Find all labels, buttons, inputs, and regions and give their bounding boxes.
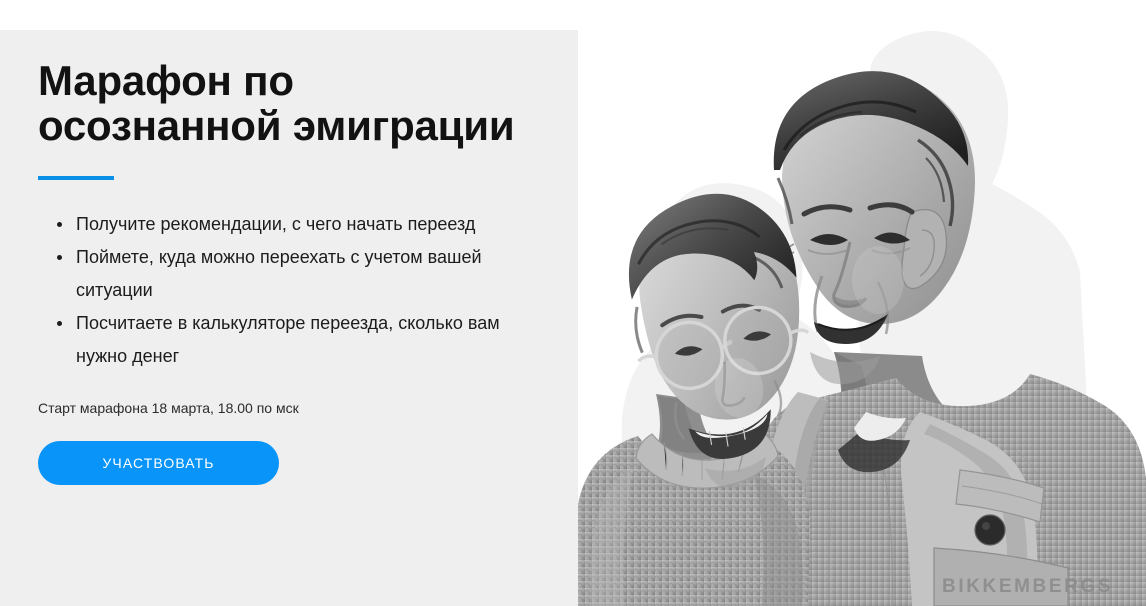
jacket-brand-text: BIKKEMBERGS [942, 576, 1113, 597]
page-title: Марафон по осознанной эмиграции [38, 58, 538, 148]
list-item-label: Поймете, куда можно переехать с учетом в… [76, 247, 482, 300]
bullet-icon [57, 222, 62, 227]
list-item-label: Посчитаете в калькуляторе переезда, скол… [76, 313, 500, 366]
benefit-list: Получите рекомендации, с чего начать пер… [38, 208, 543, 373]
hero-photo: BIKKEMBERGS [578, 0, 1146, 606]
list-item-label: Получите рекомендации, с чего начать пер… [76, 214, 475, 234]
bullet-icon [57, 255, 62, 260]
list-item: Получите рекомендации, с чего начать пер… [38, 208, 523, 241]
promo-panel: Марафон по осознанной эмиграции Получите… [0, 30, 578, 606]
participate-button[interactable]: УЧАСТВОВАТЬ [38, 441, 279, 485]
promo-banner: Марафон по осознанной эмиграции Получите… [0, 0, 1146, 606]
bullet-icon [57, 321, 62, 326]
couple-photo-illustration: BIKKEMBERGS [578, 0, 1146, 606]
list-item: Поймете, куда можно переехать с учетом в… [38, 241, 523, 307]
start-date-note: Старт марафона 18 марта, 18.00 по мск [38, 399, 543, 417]
list-item: Посчитаете в калькуляторе переезда, скол… [38, 307, 523, 373]
accent-divider [38, 176, 114, 180]
promo-content: Марафон по осознанной эмиграции Получите… [38, 58, 543, 485]
